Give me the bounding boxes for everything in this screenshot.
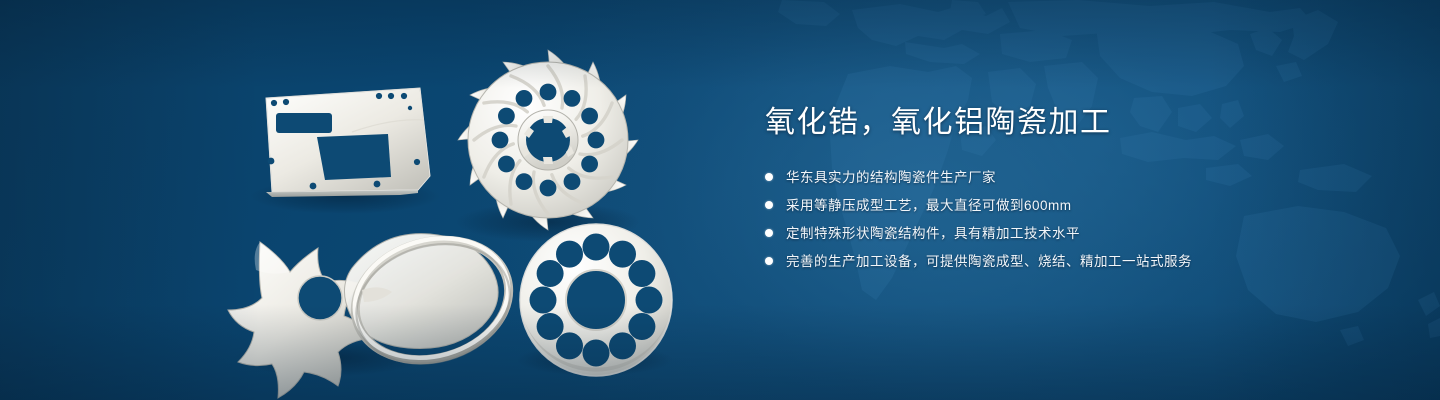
list-item: 定制特殊形状陶瓷结构件，具有精加工技术水平 [765, 222, 1365, 245]
list-item-label: 采用等静压成型工艺，最大直径可做到600mm [786, 199, 1072, 213]
product-image-cluster [0, 0, 720, 400]
list-item: 完善的生产加工设备，可提供陶瓷成型、烧结、精加工一站式服务 [765, 250, 1365, 273]
list-item-label: 完善的生产加工设备，可提供陶瓷成型、烧结、精加工一站式服务 [786, 255, 1192, 269]
product-machined-ceramic-plate [266, 88, 430, 197]
bullet-dot-icon [765, 257, 773, 265]
list-item-label: 定制特殊形状陶瓷结构件，具有精加工技术水平 [786, 227, 1080, 241]
product-ceramic-perforated-disc [520, 224, 672, 376]
feature-list: 华东具实力的结构陶瓷件生产厂家 采用等静压成型工艺，最大直径可做到600mm 定… [765, 166, 1365, 273]
bullet-dot-icon [765, 229, 773, 237]
list-item: 华东具实力的结构陶瓷件生产厂家 [765, 166, 1365, 189]
hero-banner: 氧化锆，氧化铝陶瓷加工 华东具实力的结构陶瓷件生产厂家 采用等静压成型工艺，最大… [0, 0, 1440, 400]
product-ceramic-impeller-wheel [458, 50, 638, 230]
list-item-label: 华东具实力的结构陶瓷件生产厂家 [786, 171, 996, 185]
bullet-dot-icon [765, 173, 773, 181]
banner-copy: 氧化锆，氧化铝陶瓷加工 华东具实力的结构陶瓷件生产厂家 采用等静压成型工艺，最大… [765, 104, 1365, 278]
list-item: 采用等静压成型工艺，最大直径可做到600mm [765, 194, 1365, 217]
bullet-dot-icon [765, 201, 773, 209]
page-title: 氧化锆，氧化铝陶瓷加工 [765, 104, 1365, 142]
